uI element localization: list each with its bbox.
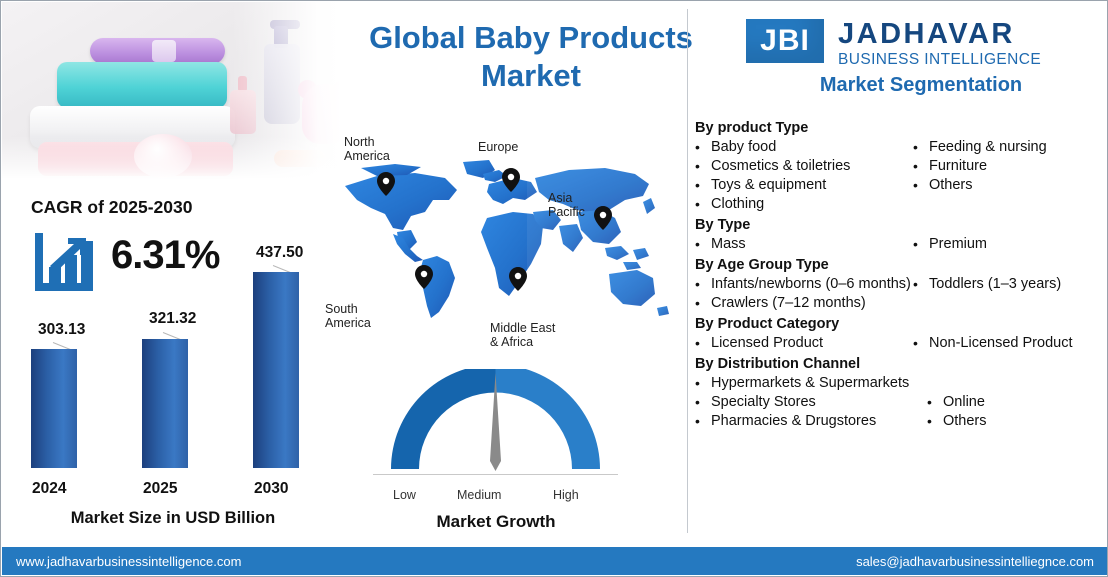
world-map	[337, 156, 677, 326]
photo-teal-towel	[57, 62, 227, 108]
bar-category-2024: 2024	[32, 480, 66, 498]
gauge-title: Market Growth	[356, 512, 636, 532]
segment-block-distribution-channel: By Distribution Channel •Hypermarkets & …	[695, 355, 1099, 431]
growth-bar-chart-icon	[31, 229, 97, 295]
bullet-icon: •	[695, 334, 711, 353]
map-label-asia-pacific: Asia Pacific	[548, 191, 585, 219]
logo-mark: JBI	[746, 19, 824, 63]
list-item: •Others	[927, 412, 1108, 431]
list-item: •Non-Licensed Product	[913, 334, 1099, 353]
map-label-middle-east-africa: Middle East & Africa	[490, 321, 555, 349]
list-item: •Online	[927, 393, 1108, 412]
map-label-eu-line1: Europe	[478, 140, 518, 154]
segment-column-left: •Baby food •Cosmetics & toiletries •Toys…	[695, 138, 913, 214]
segment-column-left: •Mass	[695, 235, 913, 254]
market-growth-gauge	[373, 369, 618, 475]
list-item: •Furniture	[913, 157, 1099, 176]
bullet-icon: •	[913, 138, 929, 157]
gauge-tick-low: Low	[393, 488, 416, 502]
bullet-icon: •	[913, 157, 929, 176]
bar-value-2030: 437.50	[256, 244, 303, 262]
segment-column-left: •Licensed Product	[695, 334, 913, 353]
segment-column-right: •Toddlers (1–3 years)	[913, 275, 1099, 313]
list-item-label: Infants/newborns (0–6 months)	[711, 275, 913, 294]
list-item: •Specialty Stores	[695, 393, 913, 412]
list-item-label: Pharmacies & Drugstores	[711, 412, 913, 431]
list-item-label: Specialty Stores	[711, 393, 913, 412]
gauge-tick-high: High	[553, 488, 579, 502]
bar-category-2025: 2025	[143, 480, 177, 498]
map-label-south-america: South America	[325, 302, 371, 330]
cagr-value: 6.31%	[111, 233, 219, 278]
list-item: •Clothing	[695, 195, 913, 214]
segment-column-right: •Non-Licensed Product	[913, 334, 1099, 353]
map-label-na-line2: America	[344, 149, 390, 163]
footer-bar: www.jadhavarbusinessintelligence.com sal…	[2, 545, 1108, 575]
list-item-label: Toddlers (1–3 years)	[929, 275, 1099, 294]
list-item-label: Baby food	[711, 138, 913, 157]
segment-block-age-group: By Age Group Type •Infants/newborns (0–6…	[695, 256, 1099, 313]
list-item-label: Hypermarkets & Supermarkets	[711, 374, 913, 393]
bar-value-2024: 303.13	[38, 321, 85, 339]
bullet-icon: •	[695, 157, 711, 176]
list-item: •Licensed Product	[695, 334, 913, 353]
list-item-label: Crawlers (7–12 months)	[711, 294, 913, 313]
segmentation-title: Market Segmentation	[746, 74, 1096, 97]
list-item: •Cosmetics & toiletries	[695, 157, 913, 176]
brand-name: JADHAVAR	[838, 19, 1041, 49]
map-label-north-america: North America	[344, 135, 390, 163]
panel-divider	[687, 9, 688, 533]
list-item: •Pharmacies & Drugstores	[695, 412, 913, 431]
photo-bottom-fade	[2, 136, 342, 182]
market-segmentation-panel: By product Type •Baby food •Cosmetics & …	[695, 119, 1099, 535]
photo-purple-detail	[152, 40, 176, 62]
list-item-label: Cosmetics & toiletries	[711, 157, 913, 176]
map-pin-north-america	[377, 172, 395, 196]
brand-tagline: BUSINESS INTELLIGENCE	[838, 51, 1041, 69]
bar-chart-axis-title: Market Size in USD Billion	[23, 509, 323, 528]
map-pin-asia-pacific	[594, 206, 612, 230]
footer-website-link[interactable]: www.jadhavarbusinessintelligence.com	[16, 554, 241, 569]
map-label-sa-line1: South	[325, 302, 371, 316]
list-item-label: Mass	[711, 235, 913, 254]
segment-column-right: •Online •Others	[913, 374, 1108, 431]
list-item: •Infants/newborns (0–6 months)	[695, 275, 913, 294]
list-item-label: Others	[929, 176, 1099, 195]
bullet-icon: •	[913, 334, 929, 353]
bullet-spacer	[927, 374, 943, 393]
bullet-icon: •	[695, 412, 711, 431]
page-title: Global Baby Products Market	[331, 19, 731, 95]
list-item: •Toddlers (1–3 years)	[913, 275, 1099, 294]
list-item: •Crawlers (7–12 months)	[695, 294, 913, 313]
segment-block-product-category: By Product Category •Licensed Product •N…	[695, 315, 1099, 353]
bullet-icon: •	[913, 176, 929, 195]
list-item-label: Feeding & nursing	[929, 138, 1099, 157]
list-item-label: Toys & equipment	[711, 176, 913, 195]
map-label-na-line1: North	[344, 135, 390, 149]
bar-category-2030: 2030	[254, 480, 288, 498]
list-item-label: Premium	[929, 235, 1099, 254]
baby-products-photo	[2, 2, 342, 182]
segment-heading: By Product Category	[695, 315, 1099, 333]
segment-heading: By Distribution Channel	[695, 355, 1099, 373]
map-label-sa-line2: America	[325, 316, 371, 330]
bar-2025	[142, 339, 188, 468]
bar-2030	[253, 272, 299, 468]
bullet-icon: •	[695, 235, 711, 254]
bullet-icon: •	[913, 275, 929, 294]
bullet-icon: •	[927, 393, 943, 412]
bullet-icon: •	[695, 374, 711, 393]
segment-heading: By product Type	[695, 119, 1099, 137]
map-label-europe: Europe	[478, 140, 518, 154]
segment-block-type: By Type •Mass •Premium	[695, 216, 1099, 254]
segment-column-right: •Premium	[913, 235, 1099, 254]
list-item: •Mass	[695, 235, 913, 254]
gauge-baseline	[373, 474, 618, 475]
list-item: •Hypermarkets & Supermarkets	[695, 374, 913, 393]
bullet-icon: •	[695, 393, 711, 412]
segment-column-left: •Infants/newborns (0–6 months) •Crawlers…	[695, 275, 913, 313]
bullet-icon: •	[913, 235, 929, 254]
bullet-icon: •	[695, 294, 711, 313]
map-pin-south-america	[415, 265, 433, 289]
bullet-icon: •	[695, 176, 711, 195]
segment-column-left: •Hypermarkets & Supermarkets •Specialty …	[695, 374, 913, 431]
segment-block-product-type: By product Type •Baby food •Cosmetics & …	[695, 119, 1099, 214]
bullet-icon: •	[927, 412, 943, 431]
list-item-label: Others	[943, 412, 1108, 431]
list-item: •Feeding & nursing	[913, 138, 1099, 157]
list-item-label: Clothing	[711, 195, 913, 214]
brand-logo: JBI JADHAVAR BUSINESS INTELLIGENCE Marke…	[746, 19, 1096, 97]
bar-2024	[31, 349, 77, 468]
bullet-icon: •	[695, 138, 711, 157]
map-label-mea-line2: & Africa	[490, 335, 555, 349]
list-item-label: Furniture	[929, 157, 1099, 176]
segment-column-right: •Feeding & nursing •Furniture •Others	[913, 138, 1099, 214]
bullet-icon: •	[695, 275, 711, 294]
list-item-spacer	[927, 374, 1108, 393]
map-label-mea-line1: Middle East	[490, 321, 555, 335]
map-pin-europe	[502, 168, 520, 192]
list-item: •Others	[913, 176, 1099, 195]
list-item: •Premium	[913, 235, 1099, 254]
bullet-icon: •	[695, 195, 711, 214]
map-label-ap-line2: Pacific	[548, 205, 585, 219]
list-item-label: Non-Licensed Product	[929, 334, 1099, 353]
infographic-page: Global Baby Products Market JBI JADHAVAR…	[0, 0, 1108, 577]
cagr-label: CAGR of 2025-2030	[31, 197, 192, 218]
segment-heading: By Type	[695, 216, 1099, 234]
gauge-svg	[373, 369, 618, 475]
list-item: •Toys & equipment	[695, 176, 913, 195]
segment-heading: By Age Group Type	[695, 256, 1099, 274]
footer-email-link[interactable]: sales@jadhavarbusinessintelliegnce.com	[856, 554, 1094, 569]
list-item-label: Online	[943, 393, 1108, 412]
map-label-ap-line1: Asia	[548, 191, 585, 205]
gauge-tick-medium: Medium	[457, 488, 501, 502]
list-item: •Baby food	[695, 138, 913, 157]
map-pin-middle-east-africa	[509, 267, 527, 291]
list-item-label: Licensed Product	[711, 334, 913, 353]
bar-value-2025: 321.32	[149, 310, 196, 328]
